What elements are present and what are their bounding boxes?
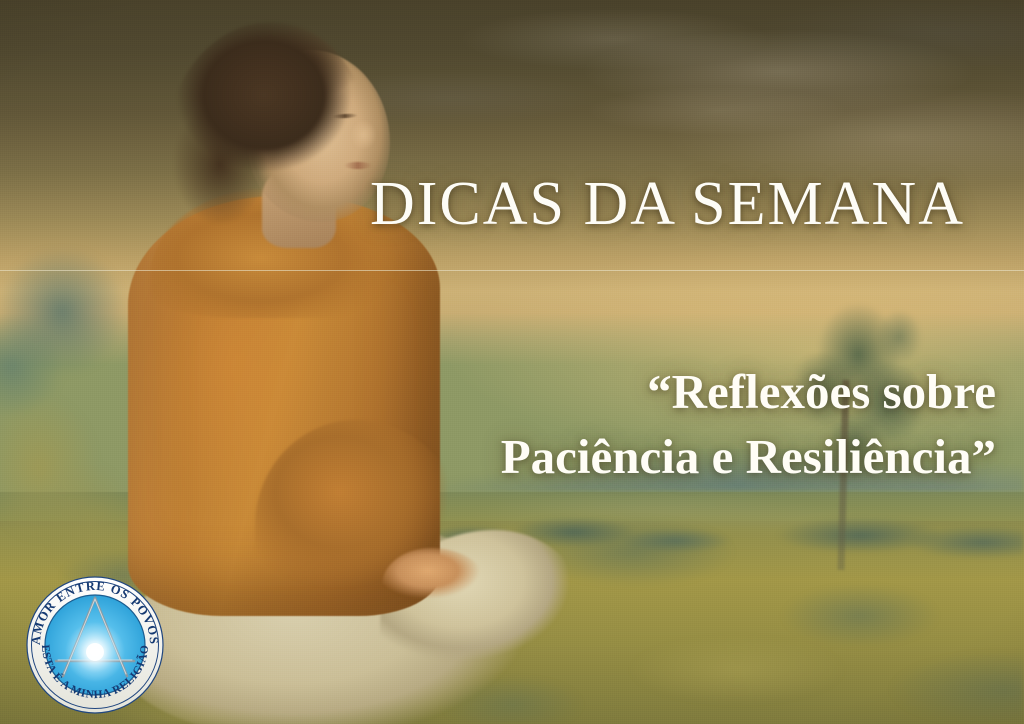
quote-block: “Reflexões sobre Paciência e Resiliência… [0,360,996,489]
quote-line-2: Paciência e Resiliência” [0,425,996,490]
horizontal-rule [0,270,1024,271]
emblem-svg: AMOR ENTRE OS POVOS ESTA É A MINHA RELIG… [16,566,174,724]
emblem-light-core [86,643,104,661]
page-title: DICAS DA SEMANA [370,172,965,236]
organization-logo: AMOR ENTRE OS POVOS ESTA É A MINHA RELIG… [16,566,174,724]
quote-line-1: “Reflexões sobre [0,360,996,425]
poster-canvas: DICAS DA SEMANA “Reflexões sobre Paciênc… [0,0,1024,724]
